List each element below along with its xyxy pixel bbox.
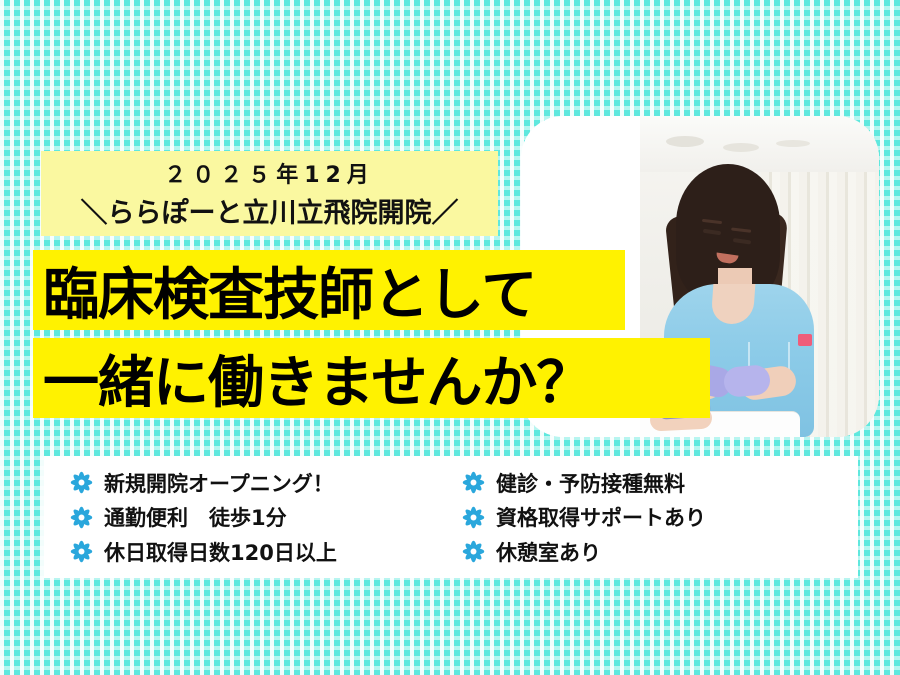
opening-date: ２０２５年12月: [164, 157, 375, 189]
benefits-panel: 新規開院オープニング！ 通勤便利 徒歩1分: [44, 456, 858, 578]
date-banner: ２０２５年12月 ＼ららぽーと立川立飛院開院／: [41, 151, 498, 236]
benefit-item: 休憩室あり: [462, 535, 842, 568]
flower-icon: [70, 506, 93, 529]
flower-icon: [462, 506, 485, 529]
benefit-label: 休憩室あり: [496, 537, 601, 567]
headline-line-2: 一緒に働きませんか？: [33, 338, 710, 418]
benefit-item: 休日取得日数120日以上: [70, 535, 462, 568]
flower-icon: [70, 471, 93, 494]
benefit-label: 通勤便利 徒歩1分: [104, 502, 287, 532]
photo-name-badge: [798, 334, 812, 346]
flower-icon: [70, 540, 93, 563]
benefit-item: 通勤便利 徒歩1分: [70, 501, 462, 534]
flower-icon: [462, 471, 485, 494]
opening-location: ＼ららぽーと立川立飛院開院／: [81, 191, 459, 230]
flower-icon: [462, 540, 485, 563]
benefits-column-left: 新規開院オープニング！ 通勤便利 徒歩1分: [70, 466, 462, 568]
benefit-label: 資格取得サポートあり: [496, 502, 706, 532]
recruitment-poster: ２０２５年12月 ＼ららぽーと立川立飛院開院／ 臨床検査技師として 一緒に働きま…: [0, 0, 900, 675]
benefit-label: 新規開院オープニング！: [104, 468, 334, 498]
benefits-column-right: 健診・予防接種無料 資格取得サポートあり: [462, 466, 842, 568]
benefit-item: 資格取得サポートあり: [462, 501, 842, 534]
photo-ceiling: [640, 116, 879, 172]
benefit-label: 休日取得日数120日以上: [104, 537, 337, 567]
benefit-item: 健診・予防接種無料: [462, 466, 842, 499]
headline-line-1: 臨床検査技師として: [33, 250, 625, 330]
benefit-item: 新規開院オープニング！: [70, 466, 462, 499]
benefit-label: 健診・予防接種無料: [496, 468, 685, 498]
